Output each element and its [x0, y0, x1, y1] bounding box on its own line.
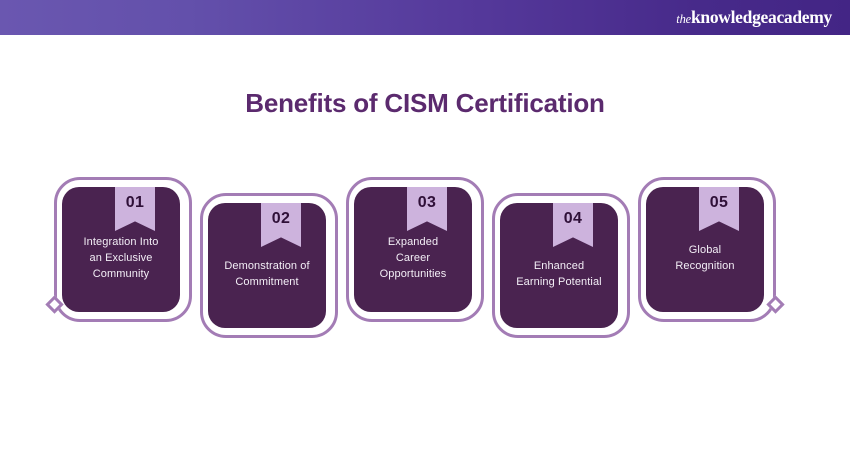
brand-logo-the: the: [676, 12, 691, 26]
steps-container: Integration Into an Exclusive Community0…: [0, 155, 850, 355]
infographic-page: theknowledgeacademy Benefits of CISM Cer…: [0, 0, 850, 450]
step-label: Global Recognition: [667, 242, 742, 274]
step-number: 01: [126, 187, 144, 211]
brand-logo-name: knowledgeacademy: [691, 7, 832, 27]
step-number: 04: [564, 203, 582, 227]
step-label: Integration Into an Exclusive Community: [76, 234, 167, 282]
step-number: 03: [418, 187, 436, 211]
step-number: 02: [272, 203, 290, 227]
header-bar: theknowledgeacademy: [0, 0, 850, 35]
brand-logo: theknowledgeacademy: [676, 9, 850, 27]
step-label: Demonstration of Commitment: [216, 258, 317, 290]
step-number: 05: [710, 187, 728, 211]
step-label: Enhanced Earning Potential: [508, 258, 609, 290]
step-label: Expanded Career Opportunities: [372, 234, 455, 282]
page-title: Benefits of CISM Certification: [0, 88, 850, 119]
